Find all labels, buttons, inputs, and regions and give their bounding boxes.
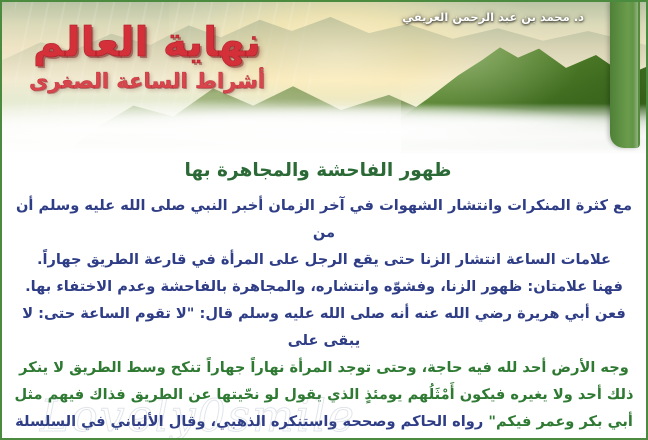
paragraph-2: فهنا علامتان: ظهور الزنا، وفشوّه وانتشار…	[12, 273, 636, 300]
body-text: مع كثرة المنكرات وانتشار الشهوات في آخر …	[12, 192, 636, 440]
hadith-end-and-attribution: أبي بكر وعمر فيكم" رواه الحاكم وصححه واس…	[12, 408, 636, 435]
paragraph-3-line-1: فعن أبي هريرة رضي الله عنه أنه صلى الله …	[12, 300, 636, 354]
section-heading: ظهور الفاحشة والمجاهرة بها	[36, 160, 626, 181]
hadith-line-2: ذلك أحد ولا يغيره فيكون أَمْثَلُهم يومئذ…	[12, 381, 636, 408]
main-title: نهاية العالم	[16, 22, 278, 63]
side-tab-inner: أشراط الساعة الصغرى	[610, 12, 640, 140]
side-tab: أشراط الساعة الصغرى	[610, 2, 640, 148]
hadith-line-3: أبي بكر وعمر فيكم"	[488, 413, 632, 430]
paragraph-1-line-1: مع كثرة المنكرات وانتشار الشهوات في آخر …	[12, 192, 636, 246]
document-page: د. محمد بن عبد الرحمن العريفي أشراط السا…	[0, 0, 648, 440]
attribution-line-2: الضعيفة: ضعيف جداً.	[12, 435, 636, 440]
hadith-line-1: وجه الأرض أحد لله فيه حاجة، وحتى توجد ال…	[12, 354, 636, 381]
attribution-line-1: رواه الحاكم وصححه واستنكره الذهبي، وقال …	[15, 413, 483, 430]
title-block: نهاية العالم أشراط الساعة الصغرى	[16, 22, 278, 93]
sub-title: أشراط الساعة الصغرى	[16, 69, 278, 93]
paragraph-1-line-2: علامات الساعة انتشار الزنا حتى يقع الرجل…	[12, 246, 636, 273]
banner-white-fade	[2, 114, 646, 154]
author-name: د. محمد بن عبد الرحمن العريفي	[402, 10, 584, 24]
